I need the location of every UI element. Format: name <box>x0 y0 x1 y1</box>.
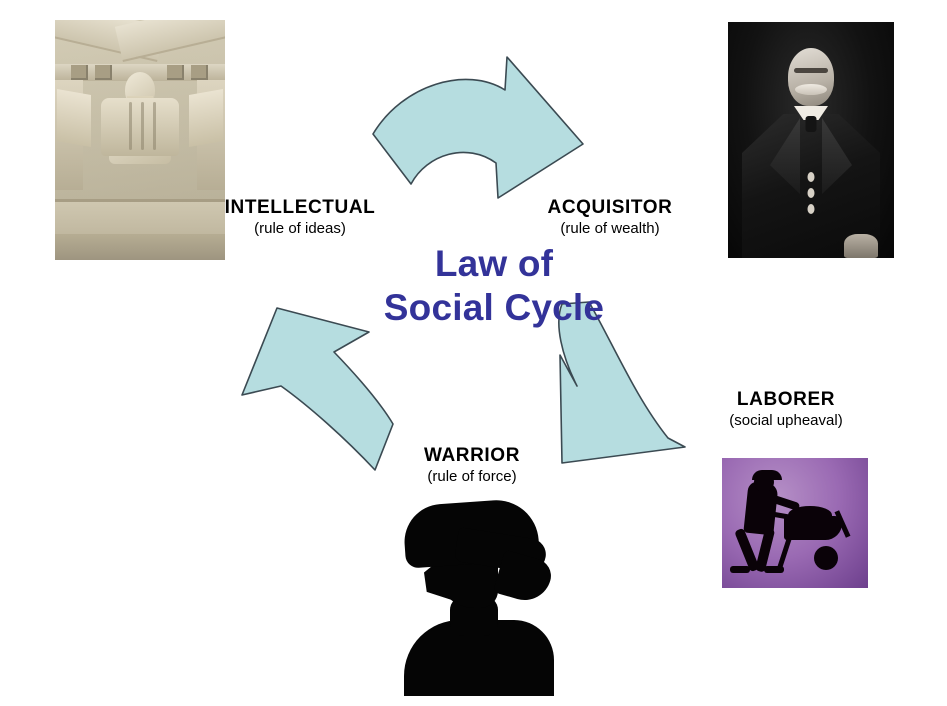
wheelbarrow-leg <box>777 538 791 568</box>
robe-fold <box>141 102 144 150</box>
diagram-title-line-1: Law of <box>344 242 644 286</box>
portrait-moustache <box>795 84 827 95</box>
node-title-laborer: LABORER <box>626 388 946 411</box>
diagram-title: Law of Social Cycle <box>344 242 644 330</box>
wheelbarrow-tray <box>784 516 842 540</box>
worker-foot-back <box>730 566 750 573</box>
wheelbarrow-wheel <box>814 546 838 570</box>
node-subtitle-warrior: (rule of force) <box>312 467 632 487</box>
robe-fold <box>129 102 132 150</box>
node-title-intellectual: INTELLECTUAL <box>140 196 460 219</box>
node-title-warrior: WARRIOR <box>312 444 632 467</box>
portrait-tie <box>806 116 817 132</box>
node-title-acquisitor: ACQUISITOR <box>450 196 770 219</box>
pediment-roof-right <box>115 20 225 62</box>
portrait-brow <box>794 68 828 73</box>
label-laborer: LABORER (social upheaval) <box>626 388 946 431</box>
pediment-dentil <box>71 65 88 80</box>
worker-cap <box>752 470 782 480</box>
vest-button <box>808 204 815 214</box>
stone-tablet-right <box>189 89 223 147</box>
vest-button <box>808 172 815 182</box>
label-acquisitor: ACQUISITOR (rule of wealth) <box>450 196 770 239</box>
worker-foot-front <box>764 566 784 573</box>
label-intellectual: INTELLECTUAL (rule of ideas) <box>140 196 460 239</box>
figure-robe <box>101 98 179 156</box>
robe-fold <box>153 102 156 150</box>
node-subtitle-acquisitor: (rule of wealth) <box>450 219 770 239</box>
laborer-image <box>722 458 868 588</box>
pediment-dentil <box>191 65 208 80</box>
warrior-plume <box>493 550 555 607</box>
warrior-image <box>390 500 556 696</box>
portrait-head <box>788 48 834 106</box>
node-subtitle-intellectual: (rule of ideas) <box>140 219 460 239</box>
node-subtitle-laborer: (social upheaval) <box>626 411 946 431</box>
social-cycle-diagram: Law of Social Cycle INTELLECTUAL (rule o… <box>0 0 947 706</box>
stone-tablet-left <box>57 89 91 147</box>
portrait-hand <box>844 234 878 258</box>
diagram-title-line-2: Social Cycle <box>344 286 644 330</box>
label-warrior: WARRIOR (rule of force) <box>312 444 632 487</box>
vest-button <box>808 188 815 198</box>
arrow-intellectual-to-acquisitor <box>355 50 595 210</box>
